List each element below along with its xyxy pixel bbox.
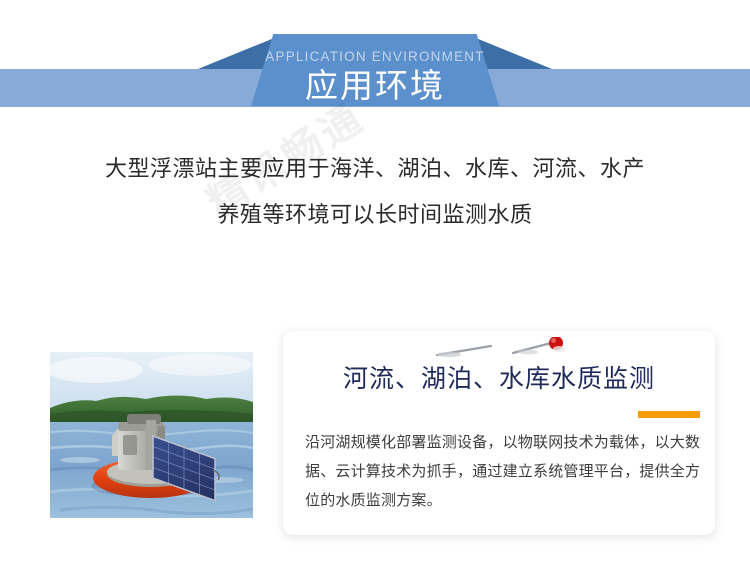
plain-needle-icon: [437, 346, 491, 357]
red-head-pin-icon: [513, 337, 565, 354]
pin-decoration: [429, 337, 579, 363]
intro-paragraph: 大型浮漂站主要应用于海洋、湖泊、水库、河流、水产 养殖等环境可以长时间监测水质: [0, 146, 750, 238]
card-accent-rule: [638, 411, 700, 418]
buoy-photo-illustration: [50, 352, 253, 518]
banner-eyebrow-text: APPLICATION ENVIRONMENT: [0, 50, 750, 64]
buoy-station-photo: [50, 352, 253, 518]
info-card: 精讯畅通 河流、湖泊、水库水质监测 沿河湖规模化部署监测设备，以物联网技术为载体…: [283, 331, 715, 535]
card-body-text: 沿河湖规模化部署监测设备，以物联网技术为载体，以大数据、云计算技术为抓手，通过建…: [305, 428, 705, 515]
page-title: 应用环境: [0, 66, 750, 106]
card-title: 河流、湖泊、水库水质监测: [283, 362, 715, 396]
pin-icons: [429, 337, 579, 363]
page-header-banner: APPLICATION ENVIRONMENT 应用环境: [0, 0, 750, 120]
